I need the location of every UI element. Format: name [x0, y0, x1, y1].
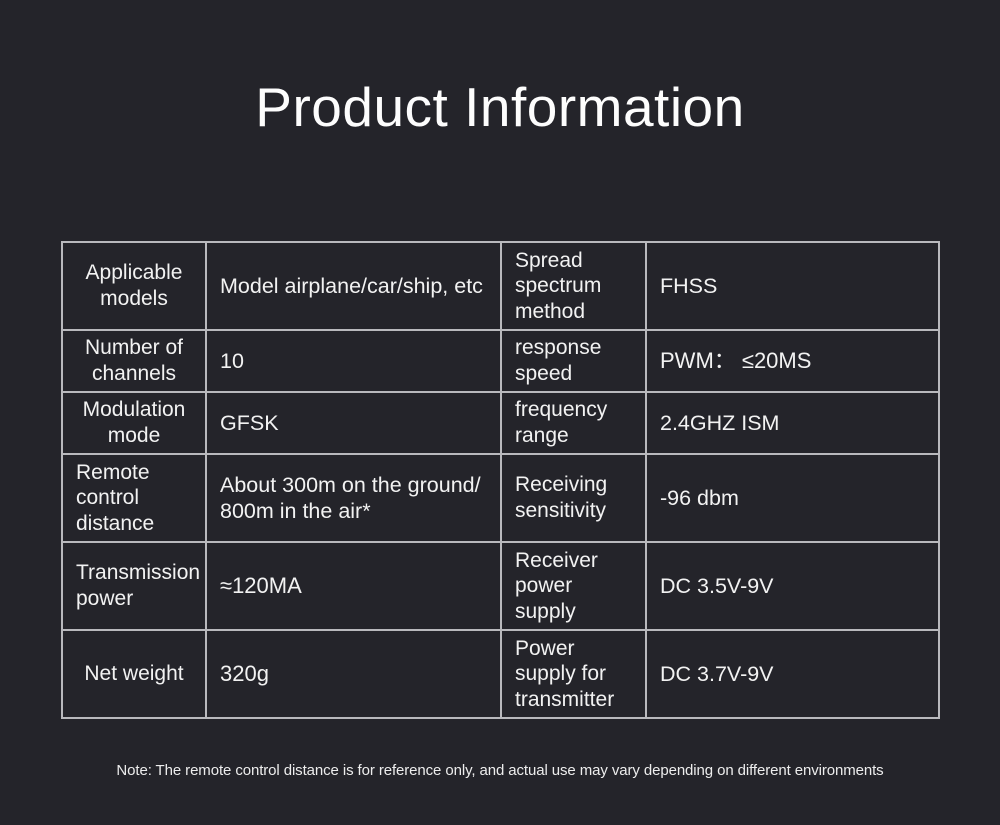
table-row: Modulation mode GFSK frequency range 2.4…	[62, 392, 939, 454]
spec-value-response-speed: PWM： ≤20MS	[646, 330, 939, 392]
spec-value-spread-spectrum-method: FHSS	[646, 242, 939, 330]
spec-label-power-supply-for-transmitter: Power supply for transmitter	[501, 630, 646, 718]
footer-note: Note: The remote control distance is for…	[0, 762, 1000, 779]
spec-label-applicable-models: Applicable models	[62, 242, 206, 330]
spec-label-modulation-mode: Modulation mode	[62, 392, 206, 454]
spec-label-receiving-sensitivity: Receiving sensitivity	[501, 454, 646, 542]
spec-value-net-weight: 320g	[206, 630, 501, 718]
page-title: Product Information	[0, 80, 1000, 135]
spec-value-receiving-sensitivity: -96 dbm	[646, 454, 939, 542]
spec-value-receiver-power-supply: DC 3.5V-9V	[646, 542, 939, 630]
spec-value-remote-control-distance: About 300m on the ground/ 800m in the ai…	[206, 454, 501, 542]
spec-label-receiver-power-supply: Receiver power supply	[501, 542, 646, 630]
spec-label-number-of-channels: Number of channels	[62, 330, 206, 392]
spec-label-spread-spectrum-method: Spread spectrum method	[501, 242, 646, 330]
spec-label-frequency-range: frequency range	[501, 392, 646, 454]
table-row: Number of channels 10 response speed PWM…	[62, 330, 939, 392]
table-row: Remote control distance About 300m on th…	[62, 454, 939, 542]
spec-label-net-weight: Net weight	[62, 630, 206, 718]
spec-value-modulation-mode: GFSK	[206, 392, 501, 454]
spec-value-frequency-range: 2.4GHZ ISM	[646, 392, 939, 454]
spec-value-transmission-power: ≈120MA	[206, 542, 501, 630]
spec-label-response-speed: response speed	[501, 330, 646, 392]
product-specification-table: Applicable models Model airplane/car/shi…	[61, 241, 940, 719]
spec-value-power-supply-for-transmitter: DC 3.7V-9V	[646, 630, 939, 718]
spec-value-number-of-channels: 10	[206, 330, 501, 392]
spec-label-transmission-power: Transmission power	[62, 542, 206, 630]
table-row: Transmission power ≈120MA Receiver power…	[62, 542, 939, 630]
spec-value-applicable-models: Model airplane/car/ship, etc	[206, 242, 501, 330]
table-row: Net weight 320g Power supply for transmi…	[62, 630, 939, 718]
table-row: Applicable models Model airplane/car/shi…	[62, 242, 939, 330]
spec-label-remote-control-distance: Remote control distance	[62, 454, 206, 542]
